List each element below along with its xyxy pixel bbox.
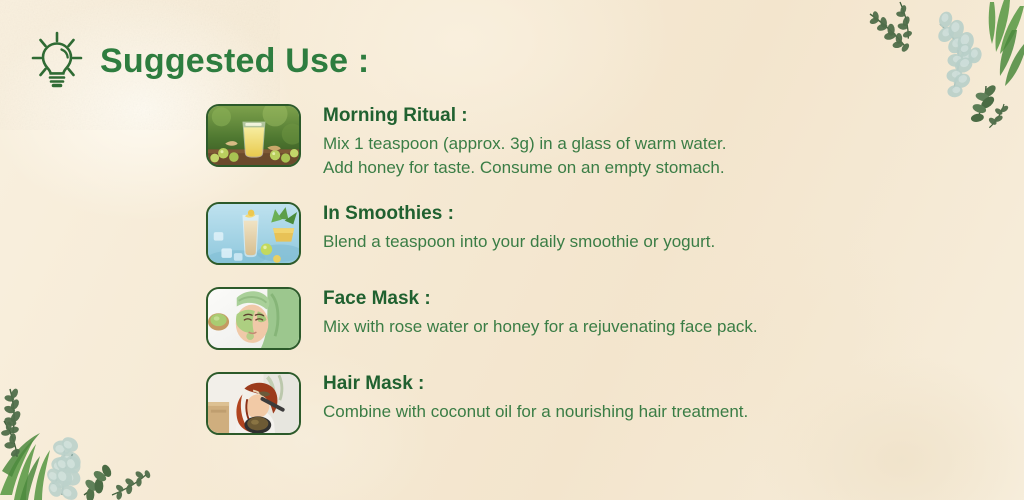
section-description: Blend a teaspoon into your daily smoothi…	[323, 230, 715, 254]
list-item[interactable]: In Smoothies : Blend a teaspoon into you…	[206, 202, 906, 265]
section-title: In Smoothies :	[323, 203, 715, 226]
section-title: Morning Ritual :	[323, 105, 726, 128]
face-mask-text: Face Mask : Mix with rose water or honey…	[323, 287, 758, 339]
page-header: Suggested Use :	[28, 30, 369, 92]
description-line: Mix 1 teaspoon (approx. 3g) in a glass o…	[323, 132, 726, 156]
section-title: Face Mask :	[323, 288, 758, 311]
description-line: Blend a teaspoon into your daily smoothi…	[323, 230, 715, 254]
description-line: Add honey for taste. Consume on an empty…	[323, 156, 726, 180]
suggested-use-list: Morning Ritual : Mix 1 teaspoon (approx.…	[206, 104, 906, 435]
morning-ritual-text: Morning Ritual : Mix 1 teaspoon (approx.…	[323, 104, 726, 180]
page-background: Suggested Use :	[0, 0, 1024, 500]
lightbulb-icon	[28, 30, 86, 92]
list-item[interactable]: Hair Mask : Combine with coconut oil for…	[206, 372, 906, 435]
face-mask-thumbnail[interactable]	[206, 287, 301, 350]
section-description: Mix with rose water or honey for a rejuv…	[323, 315, 758, 339]
list-item[interactable]: Morning Ritual : Mix 1 teaspoon (approx.…	[206, 104, 906, 180]
description-line: Combine with coconut oil for a nourishin…	[323, 400, 748, 424]
morning-ritual-thumbnail[interactable]	[206, 104, 301, 167]
page-title: Suggested Use :	[100, 44, 369, 78]
hair-mask-thumbnail[interactable]	[206, 372, 301, 435]
list-item[interactable]: Face Mask : Mix with rose water or honey…	[206, 287, 906, 350]
section-title: Hair Mask :	[323, 373, 748, 396]
in-smoothies-thumbnail[interactable]	[206, 202, 301, 265]
hair-mask-text: Hair Mask : Combine with coconut oil for…	[323, 372, 748, 424]
foliage-bottom-left	[0, 345, 180, 500]
description-line: Mix with rose water or honey for a rejuv…	[323, 315, 758, 339]
section-description: Mix 1 teaspoon (approx. 3g) in a glass o…	[323, 132, 726, 180]
section-description: Combine with coconut oil for a nourishin…	[323, 400, 748, 424]
in-smoothies-text: In Smoothies : Blend a teaspoon into you…	[323, 202, 715, 254]
